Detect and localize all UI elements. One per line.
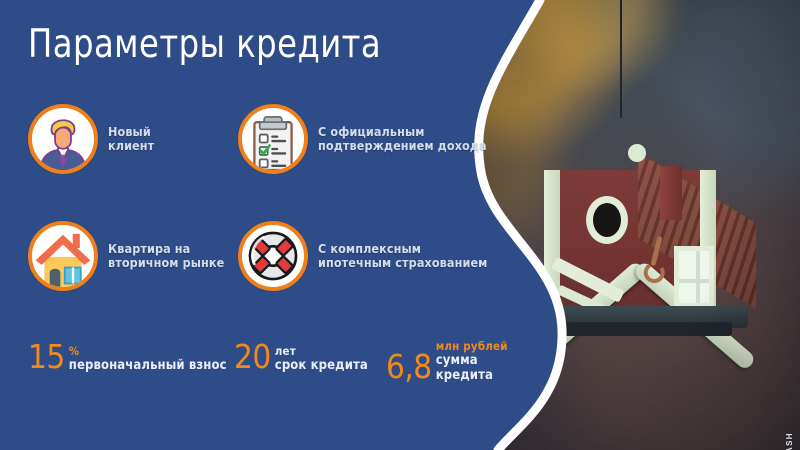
stat-value: 6,8 <box>386 350 432 383</box>
clipboard-checklist-icon <box>238 104 308 174</box>
stat-loan-term: 20 лет срок кредита <box>234 340 368 373</box>
feature-secondary-market[interactable]: Квартира на вторичном рынке <box>28 221 224 291</box>
stat-description: первоначальный взнос <box>69 358 227 373</box>
feature-new-client[interactable]: Новый клиент <box>28 104 154 174</box>
stat-unit: млн рублей <box>436 340 520 353</box>
feature-label: С официальным подтверждением дохода <box>318 125 487 154</box>
feature-official-income[interactable]: С официальным подтверждением дохода <box>238 104 487 174</box>
slide-canvas: PHOTO BY HARMEN JELLE VAN MOURIK ON UNSP… <box>0 0 800 450</box>
page-title: Параметры кредита <box>28 22 381 67</box>
feature-label: Новый клиент <box>108 125 154 154</box>
feature-mortgage-insurance[interactable]: С комплексным ипотечным страхованием <box>238 221 487 291</box>
stat-loan-amount: 6,8 млн рублей сумма кредита <box>386 340 520 383</box>
stat-unit: лет <box>275 345 368 358</box>
stat-description: сумма кредита <box>436 353 520 383</box>
stat-unit: % <box>69 345 227 358</box>
content-area: Параметры кредита Новый клиент <box>0 0 520 450</box>
feature-label: Квартира на вторичном рынке <box>108 242 224 271</box>
house-icon <box>28 221 98 291</box>
photo-credit: PHOTO BY HARMEN JELLE VAN MOURIK ON UNSP… <box>785 432 794 450</box>
stat-value: 15 <box>28 340 65 373</box>
businessman-avatar-icon <box>28 104 98 174</box>
stat-value: 20 <box>234 340 271 373</box>
lifebuoy-icon <box>238 221 308 291</box>
stat-description: срок кредита <box>275 358 368 373</box>
stat-down-payment: 15 % первоначальный взнос <box>28 340 227 373</box>
feature-label: С комплексным ипотечным страхованием <box>318 242 487 271</box>
